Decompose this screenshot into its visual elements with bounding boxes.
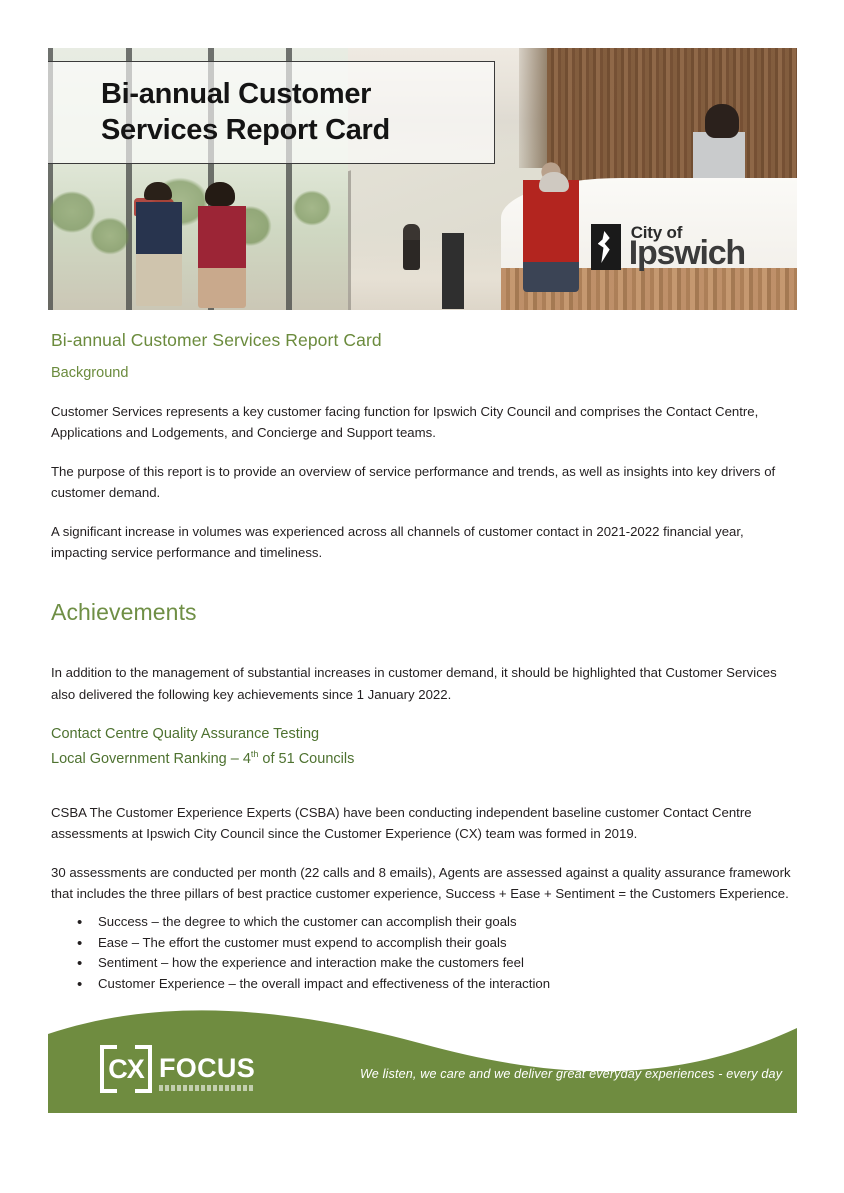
document-page: City of Ipswich Bi-annual Customer Servi… — [0, 0, 844, 1193]
paragraph-purpose: The purpose of this report is to provide… — [51, 461, 797, 504]
timber-wall-edge — [519, 48, 547, 168]
cx-focus-logo: CX FOCUS — [100, 1049, 255, 1091]
ipswich-name-text: Ipswich — [629, 238, 745, 269]
paragraph-volumes: A significant increase in volumes was ex… — [51, 521, 797, 564]
list-item: Success – the degree to which the custom… — [51, 912, 797, 932]
focus-wordmark: FOCUS — [159, 1049, 255, 1091]
pillars-list: Success – the degree to which the custom… — [51, 912, 797, 994]
achievements-heading: Achievements — [51, 599, 797, 626]
ipswich-emblem-icon — [591, 224, 621, 270]
footer-tagline: We listen, we care and we deliver great … — [360, 1067, 782, 1081]
lg-ranking-prefix: Local Government Ranking – 4 — [51, 751, 251, 767]
paragraph-csba: CSBA The Customer Experience Experts (CS… — [51, 802, 797, 845]
banner-title-line-2: Services Report Card — [101, 113, 390, 148]
wayfinding-sign — [442, 233, 464, 309]
banner-title: Bi-annual Customer Services Report Card — [48, 77, 390, 148]
focus-microtext — [159, 1085, 255, 1091]
achievement-subheadings: Contact Centre Quality Assurance Testing… — [51, 722, 797, 772]
header-banner-image: City of Ipswich Bi-annual Customer Servi… — [48, 48, 797, 310]
person-woman-hair — [205, 182, 235, 206]
person-man-hair — [144, 182, 172, 200]
lg-ranking-suffix: of 51 Councils — [258, 751, 354, 767]
subheading-qa-testing: Contact Centre Quality Assurance Testing — [51, 722, 797, 747]
ipswich-wordmark: City of Ipswich — [629, 225, 745, 270]
city-of-ipswich-logo: City of Ipswich — [591, 224, 745, 270]
list-item: Sentiment – how the experience and inter… — [51, 953, 797, 973]
list-item: Customer Experience – the overall impact… — [51, 974, 797, 994]
document-heading: Bi-annual Customer Services Report Card — [51, 330, 797, 351]
paragraph-assessments: 30 assessments are conducted per month (… — [51, 862, 797, 905]
cx-logo-text: CX — [108, 1056, 144, 1083]
timber-wall — [547, 48, 797, 196]
subheading-lg-ranking: Local Government Ranking – 4th of 51 Cou… — [51, 747, 797, 772]
person-staff-hair — [705, 104, 739, 138]
paragraph-achievements-intro: In addition to the management of substan… — [51, 662, 797, 705]
paragraph-background: Customer Services represents a key custo… — [51, 401, 797, 444]
background-subheading: Background — [51, 365, 797, 381]
banner-title-plaque: Bi-annual Customer Services Report Card — [48, 61, 495, 164]
document-content: Bi-annual Customer Services Report Card … — [51, 330, 797, 994]
focus-logo-text: FOCUS — [159, 1055, 255, 1082]
cx-bracket-icon: CX — [100, 1049, 152, 1089]
banner-title-line-1: Bi-annual Customer — [101, 77, 390, 112]
person-on-stairs — [403, 224, 420, 270]
person-red-coat-hair — [539, 172, 569, 192]
footer-banner: CX FOCUS We listen, we care and we deliv… — [48, 1000, 797, 1113]
list-item: Ease – The effort the customer must expe… — [51, 933, 797, 953]
footer-content: CX FOCUS We listen, we care and we deliv… — [48, 1000, 797, 1113]
